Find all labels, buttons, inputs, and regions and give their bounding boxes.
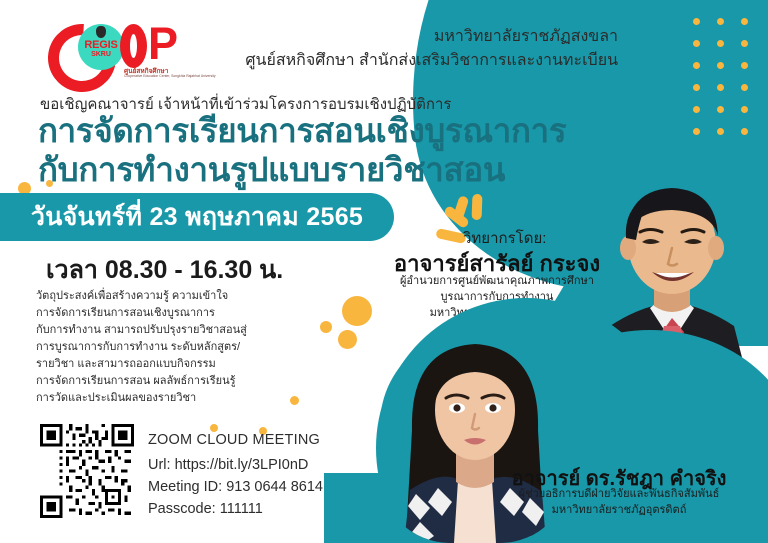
zoom-id-row: Meeting ID: 913 0644 8614 (148, 477, 323, 499)
poster-canvas: REGIS SKRU P ศูนย์สหกิจศึกษา Cooperative… (0, 0, 768, 543)
zoom-meeting-heading: ZOOM CLOUD MEETING (148, 432, 320, 448)
zoom-passcode-row: Passcode: 111111 (148, 499, 323, 521)
zoom-url-row[interactable]: Url: https://bit.ly/3LPI0nD (148, 455, 323, 477)
objective-line: วัตถุประสงค์เพื่อสร้างความรู้ ความเข้าใจ (36, 288, 276, 305)
department-name: ศูนย์สหกิจศึกษา สำนักส่งเสริมวิชาการและง… (0, 48, 618, 73)
title-line-1: การจัดการเรียนการสอนเชิงบูรณาการ (38, 112, 638, 151)
speaker-2-role-line: ผู้ช่วยอธิการบดีฝ่ายวิจัยและพันธกิจสัมพั… (470, 487, 768, 503)
zoom-id-label: Meeting ID: (148, 479, 222, 495)
orange-dot-decor (46, 180, 53, 187)
zoom-meeting-details: Url: https://bit.ly/3LPI0nD Meeting ID: … (148, 455, 323, 520)
orange-dot-decor (342, 296, 372, 326)
speaker-2-role-line: มหาวิทยาลัยราชภัฏอุตรดิตถ์ (470, 503, 768, 519)
objective-line: กับการทำงาน สามารถปรับปรุงรายวิชาสอนสู่ (36, 322, 276, 339)
title-line-2: กับการทำงานรูปแบบรายวิชาสอน (38, 151, 638, 190)
orange-dot-decor (320, 321, 332, 333)
objective-line: การจัดการเรียนการสอนเชิงบูรณาการ (36, 305, 276, 322)
speaker-1-role-line: ผู้อำนวยการศูนย์พัฒนาคุณภาพการศึกษา (352, 274, 642, 290)
date-text: วันจันทร์ที่ 23 พฤษภาคม 2565 (5, 197, 363, 237)
objectives-paragraph: วัตถุประสงค์เพื่อสร้างความรู้ ความเข้าใจ… (36, 288, 276, 407)
time-text: เวลา 08.30 - 16.30 น. (46, 250, 283, 290)
objective-line: การจัดการเรียนการสอน ผลลัพธ์การเรียนรู้ (36, 373, 276, 390)
orange-dot-decor (210, 424, 218, 432)
zoom-passcode-value: 111111 (220, 501, 263, 517)
orange-dot-decor (290, 396, 299, 405)
zoom-passcode-label: Passcode: (148, 501, 216, 517)
logo-english-subtitle: Cooperative Education Center, Songkhla R… (124, 74, 216, 78)
zoom-url-value[interactable]: https://bit.ly/3LPI0nD (175, 457, 309, 473)
zoom-url-label: Url: (148, 457, 171, 473)
objective-line: รายวิชา และสามารถออกแบบกิจกรรม (36, 356, 276, 373)
university-name: มหาวิทยาลัยราชภัฏสงขลา (0, 24, 618, 49)
orange-dot-decor (338, 330, 357, 349)
objective-line: การบูรณาการกับการทำงาน ระดับหลักสูตร/ (36, 339, 276, 356)
qr-code[interactable] (36, 420, 146, 530)
orange-ray-icon (472, 194, 483, 220)
zoom-id-value: 913 0644 8614 (226, 479, 323, 495)
speaker-2-role: ผู้ช่วยอธิการบดีฝ่ายวิจัยและพันธกิจสัมพั… (470, 487, 768, 519)
page-title: การจัดการเรียนการสอนเชิงบูรณาการ กับการท… (38, 112, 638, 190)
objective-line: การวัดและประเมินผลของรายวิชา (36, 390, 276, 407)
date-banner: วันจันทร์ที่ 23 พฤษภาคม 2565 (0, 193, 394, 241)
